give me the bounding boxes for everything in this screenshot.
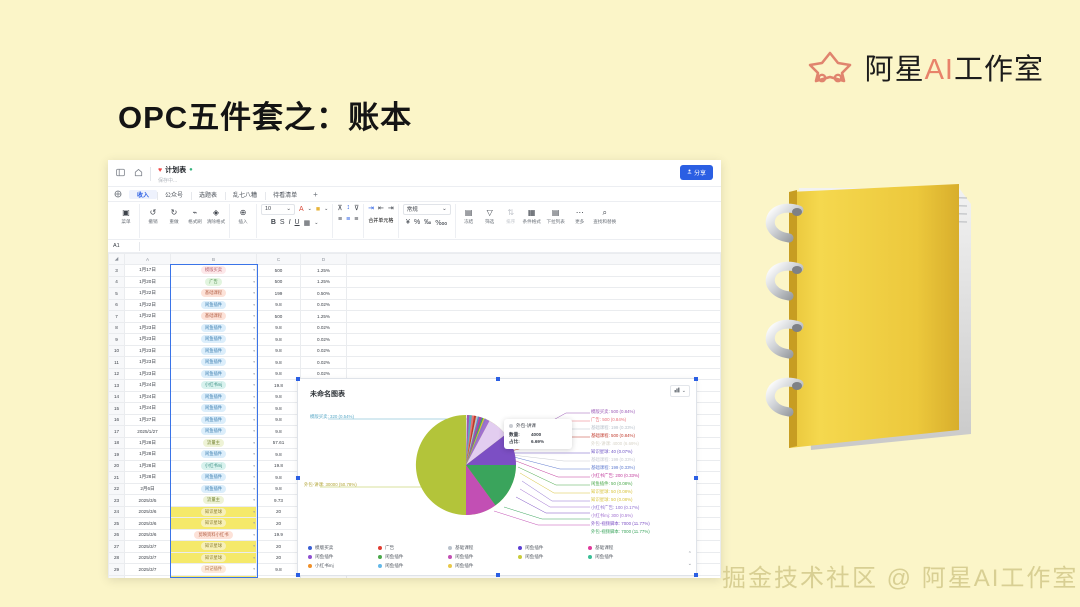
column-header-a[interactable]: A [125, 254, 171, 265]
sidebar-toggle-icon[interactable] [116, 168, 125, 177]
cell-amount[interactable]: 19.8 [257, 460, 301, 472]
cell-empty[interactable] [347, 265, 721, 277]
chart-resize-handle-ne[interactable] [694, 377, 698, 381]
row-number-cell[interactable]: 6 [109, 299, 125, 311]
redo-button[interactable]: ↻ 重做 [165, 204, 183, 225]
cell-category[interactable]: 基础课程▾ [171, 288, 257, 300]
pie-label-right-3: 基础课程: 500 (0.84%) [591, 433, 635, 439]
cell-empty[interactable] [347, 334, 721, 346]
bold-button[interactable]: B [271, 219, 276, 226]
insert-button[interactable]: ⊕ 插入 [234, 204, 252, 225]
category-tag: 剪映资料小红书 [194, 531, 232, 539]
cell-category[interactable]: 基础课程▾ [171, 311, 257, 323]
category-tag: 知识星球 [201, 542, 226, 550]
pie-label-right-10: 知识星球: 50 (0.08%) [591, 489, 632, 495]
cell-category[interactable]: 知识星球▾ [171, 518, 257, 530]
format-painter-icon: ⌁ [193, 207, 198, 218]
chevron-down-icon[interactable]: ⌄ [314, 220, 318, 226]
category-tag: 闲鱼插件 [201, 370, 226, 378]
cell-dropdown-icon[interactable]: ▾ [253, 441, 255, 445]
cell-date[interactable]: 1月23日 [125, 334, 171, 346]
wrap-text-icon[interactable]: ⇥ [368, 204, 374, 212]
wrap-row: ⇥ ⇤ ⇥ [368, 204, 394, 212]
currency-button[interactable]: ¥ [406, 219, 410, 226]
cell-amount[interactable]: 9.8 [257, 345, 301, 357]
number-format-value: 常规 [407, 205, 418, 213]
cell-dropdown-icon[interactable]: ▾ [253, 303, 255, 307]
cell-amount[interactable]: 9.8 [257, 368, 301, 380]
cell-amount[interactable]: 20 [257, 518, 301, 530]
page-title: OPC五件套之：账本 [118, 92, 412, 137]
cell-date[interactable]: 2025/3/7 [125, 541, 171, 553]
cell-percent[interactable]: 1.25% [301, 276, 347, 288]
cell-amount[interactable]: 9.8 [257, 564, 301, 576]
chart-resize-handle-s[interactable] [496, 573, 500, 577]
cell-date[interactable]: 1月23日 [125, 368, 171, 380]
cell-category[interactable]: 闲鱼插件▾ [171, 368, 257, 380]
legend-item-2[interactable]: 基础课程 [448, 545, 508, 551]
cell-category[interactable]: 闲鱼插件▾ [171, 426, 257, 438]
cell-amount[interactable]: 9.8 [257, 334, 301, 346]
cell-category[interactable]: 知识星球▾ [171, 552, 257, 564]
cell-category[interactable]: 闲鱼插件▾ [171, 403, 257, 415]
cell-dropdown-icon[interactable]: ▾ [253, 452, 255, 456]
cell-dropdown-icon[interactable]: ▾ [253, 406, 255, 410]
cell-amount[interactable]: 9.8 [257, 472, 301, 484]
cell-category[interactable]: 模版买卖▾ [171, 265, 257, 277]
share-button[interactable]: 分享 [680, 165, 713, 180]
cell-amount[interactable]: 9.8 [257, 357, 301, 369]
cell-amount[interactable]: 9.8 [257, 322, 301, 334]
cell-reference-box[interactable]: A1 [113, 243, 139, 249]
cell-date[interactable]: 1月23日 [125, 357, 171, 369]
brand-text-ai: AI [925, 54, 954, 86]
cell-percent[interactable]: 1.25% [301, 311, 347, 323]
align-top-icon[interactable]: ⊼ [337, 204, 342, 212]
find-replace-button[interactable]: ⌕ 查找和替换 [592, 204, 618, 225]
table-row[interactable]: 111月23日闲鱼插件▾9.80.02% [109, 357, 721, 369]
cell-date[interactable]: 2025/3/7 [125, 552, 171, 564]
cell-dropdown-icon[interactable]: ▾ [253, 429, 255, 433]
number-buttons-row: ¥ % ‰ ‱ [406, 219, 447, 227]
cell-dropdown-icon[interactable]: ▾ [253, 395, 255, 399]
tooltip-pct-value: 6.69% [531, 438, 544, 445]
row-number-cell[interactable]: 4 [109, 276, 125, 288]
find-replace-label: 查找和替换 [593, 219, 616, 225]
cell-category[interactable]: 闲鱼插件▾ [171, 357, 257, 369]
cell-category[interactable]: 闲鱼插件▾ [171, 449, 257, 461]
category-tag: 小红书mj [201, 462, 226, 470]
cell-date[interactable]: 1月20日 [125, 276, 171, 288]
cell-amount[interactable]: 500 [257, 265, 301, 277]
cell-dropdown-icon[interactable]: ▾ [253, 349, 255, 353]
cell-dropdown-icon[interactable]: ▾ [253, 556, 255, 560]
cell-amount[interactable]: 19.8 [257, 380, 301, 392]
cell-date[interactable]: 2025/3/6 [125, 529, 171, 541]
cell-amount[interactable]: 9.73 [257, 495, 301, 507]
cell-category[interactable]: 广告▾ [171, 276, 257, 288]
tooltip-count-row: 数量: 4000 [509, 431, 567, 438]
cell-date[interactable]: 1月27日 [125, 414, 171, 426]
align-bottom-icon[interactable]: ⊽ [354, 204, 359, 212]
cell-amount[interactable]: 20 [257, 506, 301, 518]
cell-empty[interactable] [347, 311, 721, 323]
indent-decrease-icon[interactable]: ⇤ [378, 204, 384, 212]
row-number-cell[interactable]: 13 [109, 380, 125, 392]
align-left-icon[interactable]: ≡ [338, 216, 342, 223]
cell-category[interactable]: 闲鱼插件▾ [171, 472, 257, 484]
table-row[interactable]: 41月20日广告▾5001.25% [109, 276, 721, 288]
cell-category[interactable]: 闲鱼插件▾ [171, 334, 257, 346]
align-center-icon[interactable]: ≡ [346, 216, 350, 223]
pin-icon[interactable]: ● [189, 167, 193, 173]
pie-label-right-8: 小红书广告: 200 (0.33%) [591, 473, 639, 479]
cell-date[interactable]: 1月22日 [125, 299, 171, 311]
cell-date[interactable]: 2025/3/7 [125, 564, 171, 576]
cell-date[interactable]: 1月28日 [125, 460, 171, 472]
percent-button[interactable]: % [414, 219, 420, 226]
cell-amount[interactable]: 57.61 [257, 437, 301, 449]
legend-item-11[interactable]: 闲鱼插件 [378, 563, 438, 569]
table-row[interactable]: 71月22日基础课程▾5001.25% [109, 311, 721, 323]
brand-text: 阿星AI工作室 [865, 46, 1044, 88]
cell-empty[interactable] [347, 276, 721, 288]
legend-item-3[interactable]: 闲鱼插件 [518, 545, 578, 551]
cell-percent[interactable]: 0.50% [301, 288, 347, 300]
cell-date[interactable]: 1月23日 [125, 322, 171, 334]
cell-date[interactable]: 1月22日 [125, 311, 171, 323]
cell-dropdown-icon[interactable]: ▾ [253, 533, 255, 537]
notebook-cover [789, 184, 959, 448]
cell-date[interactable]: 2025/3/7 [125, 575, 171, 578]
cell-category[interactable]: 知识星球▾ [171, 506, 257, 518]
cell-dropdown-icon[interactable]: ▾ [253, 372, 255, 376]
cell-amount[interactable]: 500 [257, 311, 301, 323]
cell-dropdown-icon[interactable]: ▾ [253, 360, 255, 364]
font-size-select[interactable]: 10⌄ [261, 204, 295, 215]
home-icon[interactable] [134, 168, 143, 177]
tooltip-series-dot [509, 424, 513, 428]
chevron-down-icon[interactable]: ⌄ [324, 206, 328, 212]
cell-category[interactable]: 闲鱼插件▾ [171, 322, 257, 334]
legend-item-0[interactable]: 模版买卖 [308, 545, 368, 551]
cell-category[interactable]: 日记插件▾ [171, 564, 257, 576]
table-row[interactable]: 91月23日闲鱼插件▾9.80.02% [109, 334, 721, 346]
row-number-cell[interactable]: 24 [109, 506, 125, 518]
cell-date[interactable]: 2月6日 [125, 483, 171, 495]
cell-category[interactable]: 流量主▾ [171, 495, 257, 507]
cell-category[interactable]: 小红书mj▾ [171, 460, 257, 472]
cell-dropdown-icon[interactable]: ▾ [253, 418, 255, 422]
sheet-tab-3[interactable]: 乱七八糟 [225, 190, 265, 199]
cell-date[interactable]: 1月24日 [125, 391, 171, 403]
legend-label: 模版买卖 [315, 545, 333, 551]
cell-amount[interactable]: 19.9 [257, 529, 301, 541]
add-sheet-button[interactable]: + [305, 190, 326, 199]
category-tag: 广告 [205, 278, 222, 286]
category-tag: 闲鱼插件 [201, 335, 226, 343]
dropdown-list-button[interactable]: ▤ 下拉列表 [544, 204, 568, 225]
cell-date[interactable]: 1月22日 [125, 288, 171, 300]
cell-empty[interactable] [347, 288, 721, 300]
legend-dot [518, 546, 522, 550]
borders-icon[interactable]: ▦ [304, 219, 311, 227]
corner-header[interactable]: ◢ [109, 254, 125, 265]
format-painter-button[interactable]: ⌁ 格式刷 [186, 204, 204, 225]
legend-dot [518, 555, 522, 559]
document-title[interactable]: 计划表 [165, 165, 186, 175]
legend-item-6[interactable]: 闲鱼插件 [378, 554, 438, 560]
chart-type-icon [674, 387, 680, 395]
row-number-cell[interactable]: 3 [109, 265, 125, 277]
cell-dropdown-icon[interactable]: ▾ [253, 567, 255, 571]
cell-amount[interactable]: 9.8 [257, 483, 301, 495]
row-number-cell[interactable]: 11 [109, 357, 125, 369]
cell-empty[interactable] [347, 299, 721, 311]
cell-empty[interactable] [347, 357, 721, 369]
row-number-cell[interactable]: 5 [109, 288, 125, 300]
legend-item-12[interactable]: 闲鱼插件 [448, 563, 508, 569]
row-number-cell[interactable]: 23 [109, 495, 125, 507]
row-number-cell[interactable]: 29 [109, 564, 125, 576]
row-number-cell[interactable]: 21 [109, 472, 125, 484]
menu-button[interactable]: ▣ 菜单 [117, 204, 135, 225]
row-number-cell[interactable]: 9 [109, 334, 125, 346]
indent-increase-icon[interactable]: ⇥ [388, 204, 394, 212]
category-tag: 流量主 [203, 439, 224, 447]
sheet-tab-4[interactable]: 待看清单 [265, 190, 305, 199]
font-row-bottom: B S I U ▦ ⌄ [271, 219, 319, 227]
cell-amount[interactable]: 9.8 [257, 414, 301, 426]
number-format-select[interactable]: 常规⌄ [403, 204, 451, 215]
row-number-cell[interactable]: 17 [109, 426, 125, 438]
sort-button[interactable]: ⇅ 排序 [502, 204, 520, 225]
legend-item-4[interactable]: 基础课程 [588, 545, 648, 551]
cell-category[interactable]: 闲鱼插件▾ [171, 391, 257, 403]
sheet-tab-2[interactable]: 选题表 [191, 190, 225, 199]
table-row[interactable]: 81月23日闲鱼插件▾9.80.02% [109, 322, 721, 334]
cell-amount[interactable]: 9.8 [257, 449, 301, 461]
chart-resize-handle-sw[interactable] [296, 573, 300, 577]
chart-resize-handle-se[interactable] [694, 573, 698, 577]
cell-dropdown-icon[interactable]: ▾ [253, 326, 255, 330]
cell-date[interactable]: 1月17日 [125, 265, 171, 277]
sheet-tab-1[interactable]: 公众号 [157, 190, 191, 199]
cell-dropdown-icon[interactable]: ▾ [253, 487, 255, 491]
cell-empty[interactable] [347, 345, 721, 357]
menu-icon: ▣ [122, 207, 130, 218]
table-row[interactable]: 61月22日闲鱼插件▾9.80.02% [109, 299, 721, 311]
cell-amount[interactable]: 199 [257, 288, 301, 300]
cell-category[interactable]: 知识星球▾ [171, 541, 257, 553]
align-middle-icon[interactable]: ↕ [346, 204, 350, 211]
cell-date[interactable]: 1月28日 [125, 449, 171, 461]
spreadsheet-grid[interactable]: ◢ A B C D 31月17日模版买卖▾5001.25%41月20日广告▾50… [108, 253, 721, 578]
cell-category[interactable]: 闲鱼插件▾ [171, 345, 257, 357]
row-number-cell[interactable]: 25 [109, 518, 125, 530]
column-header-c[interactable]: C [257, 254, 301, 265]
insert-label: 插入 [238, 219, 247, 225]
text-color-icon[interactable]: A [299, 206, 304, 213]
cell-amount[interactable]: 20 [257, 552, 301, 564]
column-header-d[interactable]: D [301, 254, 347, 265]
legend-prev-icon[interactable]: ⌃ [688, 551, 692, 557]
row-number-cell[interactable]: 19 [109, 449, 125, 461]
row-number-cell[interactable]: 14 [109, 391, 125, 403]
chart-resize-handle-n[interactable] [496, 377, 500, 381]
tooltip-count-label: 数量: [509, 431, 525, 438]
legend-label: 闲鱼插件 [315, 554, 333, 560]
category-tag: 闲鱼插件 [201, 347, 226, 355]
cell-dropdown-icon[interactable]: ▾ [253, 291, 255, 295]
category-tag: 日记插件 [201, 565, 226, 573]
cell-amount[interactable]: 9.8 [257, 299, 301, 311]
more-button[interactable]: ⋯ 更多 [571, 204, 589, 225]
cell-percent[interactable]: 0.02% [301, 345, 347, 357]
cell-dropdown-icon[interactable]: ▾ [253, 510, 255, 514]
legend-item-10[interactable]: 小红书mj [308, 563, 368, 569]
cell-date[interactable]: 1月28日 [125, 472, 171, 484]
legend-item-7[interactable]: 闲鱼插件 [448, 554, 508, 560]
all-sheets-icon[interactable] [114, 190, 122, 198]
legend-pager: ⌃ ⌄ [688, 551, 692, 567]
legend-item-5[interactable]: 闲鱼插件 [308, 554, 368, 560]
pie-slices[interactable] [416, 415, 516, 515]
row-number-cell[interactable]: 28 [109, 552, 125, 564]
toolbar-group-data: ▤ 冻结 ▽ 筛选 ⇅ 排序 ▦ 条件格式 ▤ 下拉列表 [456, 204, 622, 238]
row-number-cell[interactable]: 20 [109, 460, 125, 472]
table-row[interactable]: 101月23日闲鱼插件▾9.80.02% [109, 345, 721, 357]
cell-date[interactable]: 1月24日 [125, 380, 171, 392]
cell-dropdown-icon[interactable]: ▾ [253, 521, 255, 525]
row-number-cell[interactable]: 7 [109, 311, 125, 323]
legend-item-9[interactable]: 闲鱼插件 [588, 554, 648, 560]
cell-date[interactable]: 1月24日 [125, 403, 171, 415]
cell-category[interactable]: 闲鱼插件▾ [171, 299, 257, 311]
row-number-cell[interactable]: 27 [109, 541, 125, 553]
cell-date[interactable]: 2025/3/6 [125, 518, 171, 530]
row-number-cell[interactable]: 8 [109, 322, 125, 334]
cell-percent[interactable]: 1.25% [301, 265, 347, 277]
cell-percent[interactable]: 0.02% [301, 322, 347, 334]
cell-dropdown-icon[interactable]: ▾ [253, 314, 255, 318]
clear-format-label: 清除格式 [207, 219, 225, 225]
sheet-tab-0[interactable]: 收入 [129, 190, 157, 199]
format-painter-label: 格式刷 [188, 219, 202, 225]
chart-resize-handle-nw[interactable] [296, 377, 300, 381]
cell-dropdown-icon[interactable]: ▾ [253, 498, 255, 502]
cell-category[interactable]: 流量主▾ [171, 437, 257, 449]
align-right-icon[interactable]: ≡ [354, 216, 358, 223]
cell-category[interactable]: 小红书mj▾ [171, 380, 257, 392]
undo-icon: ↺ [150, 207, 157, 218]
italic-button[interactable]: I [289, 219, 291, 226]
row-number-cell[interactable]: 30 [109, 575, 125, 578]
conditional-format-button[interactable]: ▦ 条件格式 [523, 204, 541, 225]
decimal-decrease-icon[interactable]: ‱ [435, 219, 447, 227]
cell-date[interactable]: 2025/1/27 [125, 426, 171, 438]
cell-dropdown-icon[interactable]: ▾ [253, 280, 255, 284]
undo-label: 撤销 [148, 219, 157, 225]
cell-dropdown-icon[interactable]: ▾ [253, 268, 255, 272]
font-row-top: 10⌄ A ⌄ ■ ⌄ [261, 204, 328, 215]
chevron-down-icon[interactable]: ⌄ [308, 206, 312, 212]
category-tag: 基础课程 [201, 289, 226, 297]
legend-next-icon[interactable]: ⌄ [688, 561, 692, 567]
row-number-cell[interactable]: 12 [109, 368, 125, 380]
cell-dropdown-icon[interactable]: ▾ [253, 544, 255, 548]
row-number-cell[interactable]: 10 [109, 345, 125, 357]
chart-type-button[interactable]: ⌄ [670, 385, 690, 397]
cell-category[interactable]: 闲鱼插件▾ [171, 414, 257, 426]
pie-label-right-5: 基础课程: 199 (0.33%) [591, 457, 635, 463]
cell-amount[interactable]: 20 [257, 575, 301, 578]
filter-button[interactable]: ▽ 筛选 [481, 204, 499, 225]
row-number-cell[interactable]: 15 [109, 403, 125, 415]
column-header-e[interactable] [347, 254, 721, 265]
decimal-increase-icon[interactable]: ‰ [424, 219, 431, 226]
column-header-b[interactable]: B [171, 254, 257, 265]
cell-percent[interactable]: 0.02% [301, 334, 347, 346]
sort-icon: ⇅ [507, 207, 514, 218]
chevron-down-icon: ⌄ [442, 206, 447, 212]
cell-date[interactable]: 2025/3/6 [125, 506, 171, 518]
undo-button[interactable]: ↺ 撤销 [144, 204, 162, 225]
cell-percent[interactable]: 0.02% [301, 299, 347, 311]
cell-date[interactable]: 1月28日 [125, 437, 171, 449]
clear-format-button[interactable]: ◈ 清除格式 [207, 204, 225, 225]
cell-category[interactable]: 闲鱼插件▾ [171, 483, 257, 495]
cell-dropdown-icon[interactable]: ▾ [253, 383, 255, 387]
legend-item-8[interactable]: 闲鱼插件 [518, 554, 578, 560]
cell-amount[interactable]: 9.8 [257, 403, 301, 415]
row-number-cell[interactable]: 16 [109, 414, 125, 426]
cell-date[interactable]: 2025/3/5 [125, 495, 171, 507]
cell-amount[interactable]: 9.8 [257, 391, 301, 403]
table-row[interactable]: 31月17日模版买卖▾5001.25% [109, 265, 721, 277]
underline-button[interactable]: U [295, 219, 300, 226]
cell-dropdown-icon[interactable]: ▾ [253, 464, 255, 468]
table-row[interactable]: 51月22日基础课程▾1990.50% [109, 288, 721, 300]
cell-amount[interactable]: 20 [257, 541, 301, 553]
category-tag: 流量主 [203, 496, 224, 504]
save-status: 保存中... [158, 177, 193, 184]
row-number-cell[interactable]: 18 [109, 437, 125, 449]
fill-color-icon[interactable]: ■ [316, 206, 320, 213]
notebook-illustration [745, 182, 977, 464]
cell-category[interactable]: 剪映资料小红书▾ [171, 529, 257, 541]
cell-amount[interactable]: 500 [257, 276, 301, 288]
cell-empty[interactable] [347, 322, 721, 334]
row-number-cell[interactable]: 22 [109, 483, 125, 495]
strikethrough-button[interactable]: S [280, 219, 285, 226]
cell-dropdown-icon[interactable]: ▾ [253, 337, 255, 341]
chart-object[interactable]: 未命名图表 ⌄ [297, 378, 697, 576]
freeze-button[interactable]: ▤ 冻结 [460, 204, 478, 225]
conditional-format-label: 条件格式 [523, 219, 541, 225]
cell-dropdown-icon[interactable]: ▾ [253, 475, 255, 479]
row-number-cell[interactable]: 26 [109, 529, 125, 541]
cell-date[interactable]: 1月23日 [125, 345, 171, 357]
merge-cells-label[interactable]: 合并单元格 [368, 217, 393, 224]
legend-item-1[interactable]: 广告 [378, 545, 438, 551]
cell-percent[interactable]: 0.02% [301, 357, 347, 369]
titlebar-icons [116, 165, 143, 177]
cell-amount[interactable]: 9.8 [257, 426, 301, 438]
pie-label-right-12: 小红书广告: 100 (0.17%) [591, 505, 639, 511]
tooltip-pct-row: 占比: 6.69% [509, 438, 567, 445]
cell-category[interactable]: 知识星球▾ [171, 575, 257, 578]
